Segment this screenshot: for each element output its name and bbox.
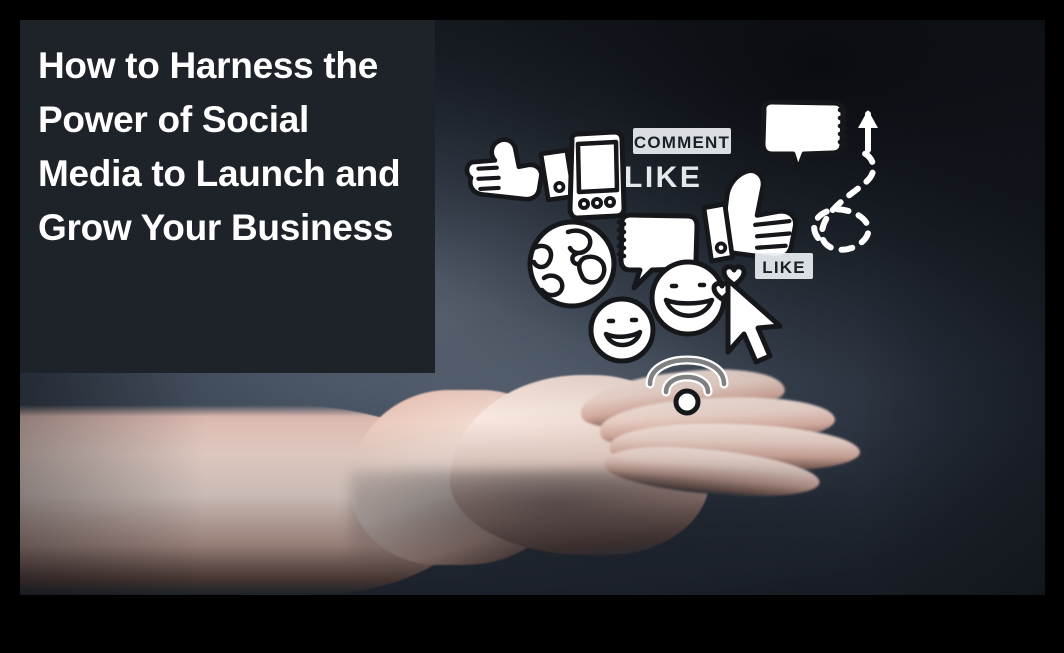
page-title: How to Harness the Power of Social Media… [38, 39, 418, 255]
hero-banner: .dw { fill:#ffffff; stroke:#15171a; stro… [20, 20, 1045, 595]
image-frame: .dw { fill:#ffffff; stroke:#15171a; stro… [0, 0, 1064, 653]
title-overlay-panel: How to Harness the Power of Social Media… [20, 20, 435, 373]
